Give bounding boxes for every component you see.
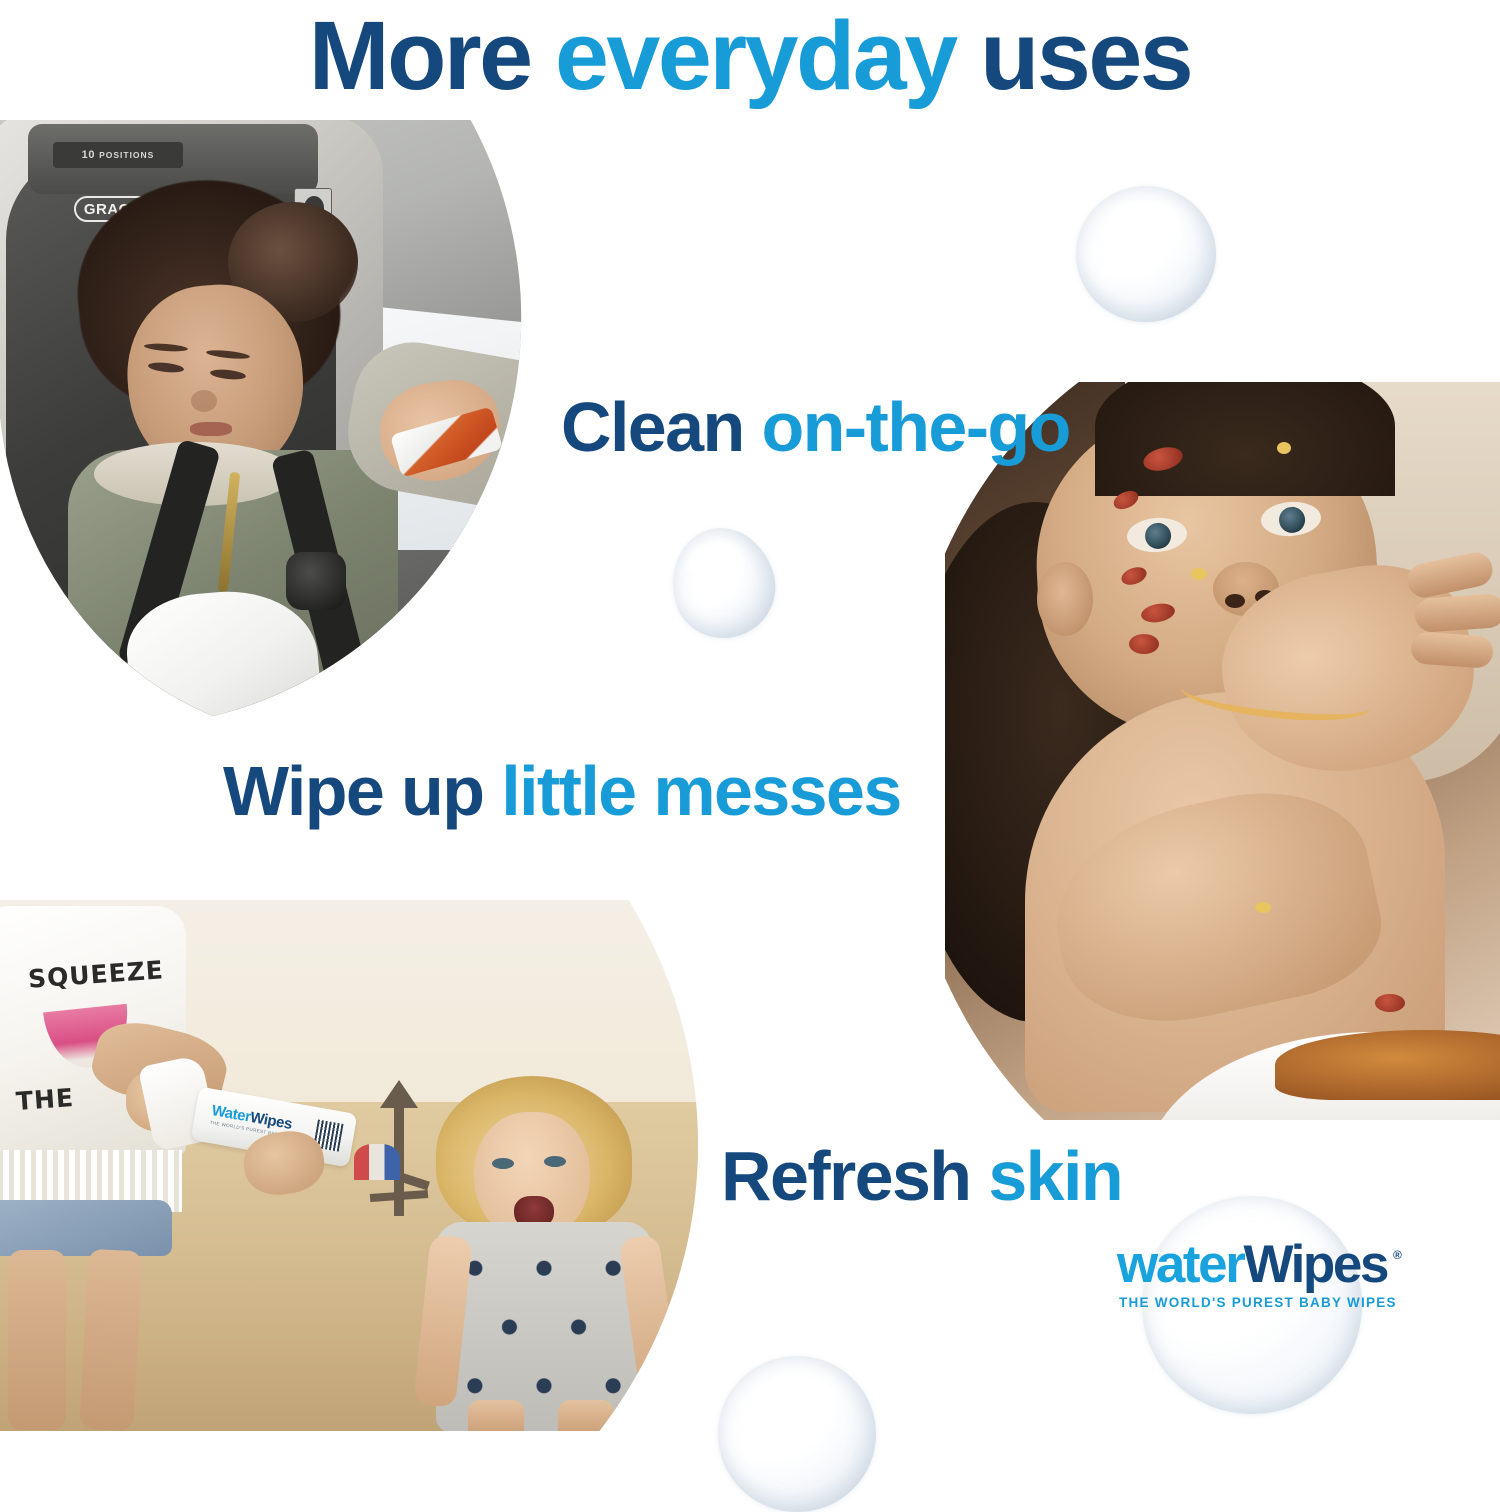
baby-finger-3 [1410, 631, 1494, 669]
logo-wordmark: waterWipes [1117, 1238, 1387, 1291]
toddler-mouth [190, 422, 232, 436]
baby-hair [1095, 382, 1395, 496]
sauce-smear-6 [1375, 994, 1405, 1012]
bubble-bottom [718, 1356, 876, 1512]
toddler-nose [191, 390, 217, 412]
food-crumb-3 [1255, 902, 1271, 913]
caption-clean-on-the-go: Clean on-the-go [561, 392, 1070, 462]
food-crumb-1 [1191, 568, 1207, 580]
logo-tagline: THE WORLD'S PUREST BABY WIPES [1119, 1295, 1397, 1310]
caption-3-cyan: skin [988, 1137, 1122, 1215]
headrest-positions-word: POSITIONS [99, 150, 154, 160]
logo-word-wipes: Wipes [1243, 1235, 1387, 1294]
harness-buckle [286, 552, 346, 610]
bubble-top-right [1076, 186, 1216, 322]
toddler-eye-left-beach [492, 1158, 514, 1169]
caption-refresh-skin: Refresh skin [721, 1141, 1122, 1211]
promo-canvas: More everyday uses 10 POSITIONS GRACO [0, 0, 1500, 1429]
toddler-leg-right [558, 1400, 614, 1431]
page-title-part-3: uses [956, 1, 1192, 110]
baby-ear [1037, 562, 1093, 636]
caption-3-navy: Refresh [721, 1137, 988, 1215]
caption-1-cyan: on-the-go [761, 388, 1069, 466]
sauce-smear-3 [1129, 634, 1159, 654]
registered-trademark-icon: ® [1393, 1248, 1402, 1262]
bubble-center [658, 515, 789, 651]
page-title-part-2: everyday [555, 1, 956, 110]
girl-leg-right [79, 1249, 142, 1431]
tshirt-text-line-2: THE [15, 1083, 75, 1116]
denim-shorts [0, 1200, 172, 1256]
baby-finger-2 [1414, 593, 1500, 633]
girl-leg-left [8, 1250, 66, 1430]
caption-1-navy: Clean [561, 388, 761, 466]
toddler-leg-left [468, 1400, 524, 1431]
caption-2-cyan: little messes [501, 752, 900, 830]
waterwipes-logo: waterWipes ® THE WORLD'S PUREST BABY WIP… [1117, 1238, 1417, 1328]
caption-2-navy: Wipe up [223, 752, 501, 830]
page-title-part-1: More [309, 1, 555, 110]
headrest-positions-number: 10 [82, 149, 95, 161]
photo-beach: SQUEEZE THE WaterWipes THE WORLD'S PURES… [0, 900, 698, 1431]
baby-nostril-left [1225, 594, 1245, 608]
food-crumb-2 [1277, 442, 1291, 454]
photo-car-seat: 10 POSITIONS GRACO [0, 120, 543, 740]
beach-windbreak [354, 1144, 400, 1180]
caption-wipe-up-little-messes: Wipe up little messes [223, 756, 901, 826]
photo-messy-eater [945, 382, 1500, 1120]
page-title: More everyday uses [0, 4, 1500, 109]
logo-word-water: water [1117, 1235, 1243, 1294]
toddler-eye-right-beach [544, 1156, 566, 1167]
headrest-positions-label: 10 POSITIONS [53, 142, 183, 168]
